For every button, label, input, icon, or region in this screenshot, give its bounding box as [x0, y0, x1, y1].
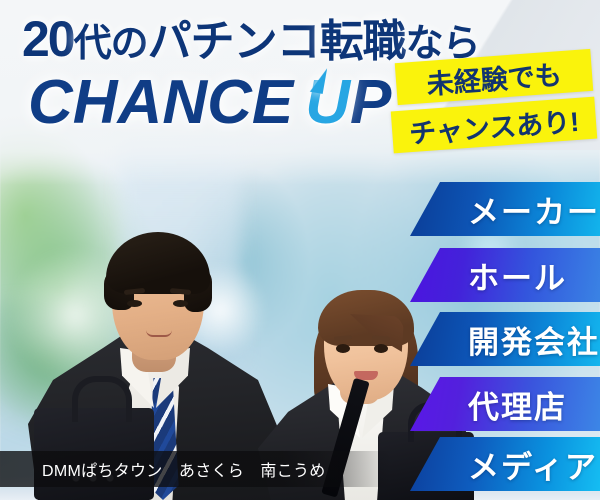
headline-kanji: 転職 [320, 17, 406, 66]
category-label-media: メディア [468, 442, 598, 487]
category-button-developer[interactable]: 開発会社 [410, 312, 600, 366]
businessman-hair [106, 232, 210, 294]
category-button-media[interactable]: メディア [410, 437, 600, 491]
businessman-mouth [146, 330, 172, 337]
credit-text: DMMぱちタウン あさくら 南こうめ [42, 457, 326, 481]
logo-letter-p: P [350, 68, 391, 137]
category-label-hall: ホール [468, 253, 567, 298]
businesswoman-eye-left [336, 344, 350, 353]
category-button-maker[interactable]: メーカー [410, 182, 600, 236]
category-button-hall[interactable]: ホール [410, 248, 600, 302]
briefcase-handle [72, 376, 132, 422]
pachinko-job-banner-ad[interactable]: 20代のパチンコ転職なら CHANCEUP 未経験でも チャンスあり! メーカー… [0, 0, 600, 500]
logo-word-chance: CHANCE [28, 68, 293, 137]
headline-text: 20代のパチンコ転職なら [22, 14, 480, 64]
photo-businessman [28, 160, 278, 500]
category-label-agency: 代理店 [468, 382, 567, 427]
businesswoman-eye-right [374, 344, 388, 353]
headline-number: 20 [22, 11, 74, 67]
logo-up-group: U [305, 72, 350, 134]
credit-band: DMMぱちタウン あさくら 南こうめ [0, 451, 392, 487]
category-label-maker: メーカー [468, 187, 600, 232]
headline-katakana: パチンコ [148, 17, 320, 66]
businessman-eye-right [173, 300, 188, 307]
category-button-agency[interactable]: 代理店 [410, 377, 600, 431]
chance-up-logo: CHANCEUP [28, 72, 391, 134]
headline-mid: 代の [74, 23, 148, 65]
ribbon-label-1: 未経験でも [425, 53, 562, 102]
businessman-eye-left [127, 300, 142, 307]
category-label-developer: 開発会社 [468, 317, 600, 362]
